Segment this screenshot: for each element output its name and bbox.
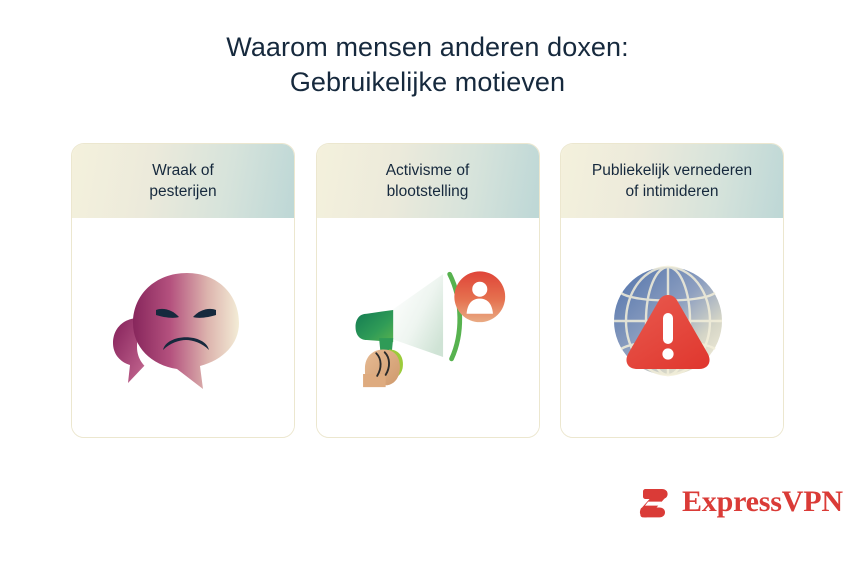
motive-card-revenge: Wraak of pesterijen [71, 143, 295, 438]
globe-warning-icon [602, 255, 742, 395]
card-title-line-1: Publiekelijk vernederen [592, 162, 752, 179]
megaphone-with-hand-icon [348, 255, 508, 395]
expressvpn-e-mark-icon [636, 484, 672, 520]
page-title: Waarom mensen anderen doxen: Gebruikelij… [0, 30, 855, 100]
expressvpn-logo: ExpressVPN [636, 482, 843, 522]
card-header: Publiekelijk vernederen of intimideren [561, 144, 783, 218]
card-title: Wraak of pesterijen [149, 160, 216, 202]
page-title-line-2: Gebruikelijke motieven [0, 65, 855, 100]
motive-card-activism: Activisme of blootstelling [316, 143, 540, 438]
card-body [317, 218, 539, 437]
card-title-line-2: blootstelling [387, 183, 469, 200]
card-title: Publiekelijk vernederen of intimideren [592, 160, 752, 202]
card-title-line-2: of intimideren [625, 183, 718, 200]
motive-card-list: Wraak of pesterijen [71, 143, 784, 438]
card-body [561, 218, 783, 437]
card-title-line-1: Wraak of [152, 162, 214, 179]
page-title-line-1: Waarom mensen anderen doxen: [0, 30, 855, 65]
motive-card-public-shaming: Publiekelijk vernederen of intimideren [560, 143, 784, 438]
card-body [72, 218, 294, 437]
card-illustration [103, 255, 263, 395]
card-header: Activisme of blootstelling [317, 144, 539, 218]
card-title-line-2: pesterijen [149, 183, 216, 200]
angry-speech-bubbles-icon [103, 255, 263, 395]
card-illustration [592, 255, 752, 395]
brand-name: ExpressVPN [682, 487, 843, 517]
card-header: Wraak of pesterijen [72, 144, 294, 218]
card-title-line-1: Activisme of [386, 162, 470, 179]
card-illustration [348, 255, 508, 395]
card-title: Activisme of blootstelling [386, 160, 470, 202]
